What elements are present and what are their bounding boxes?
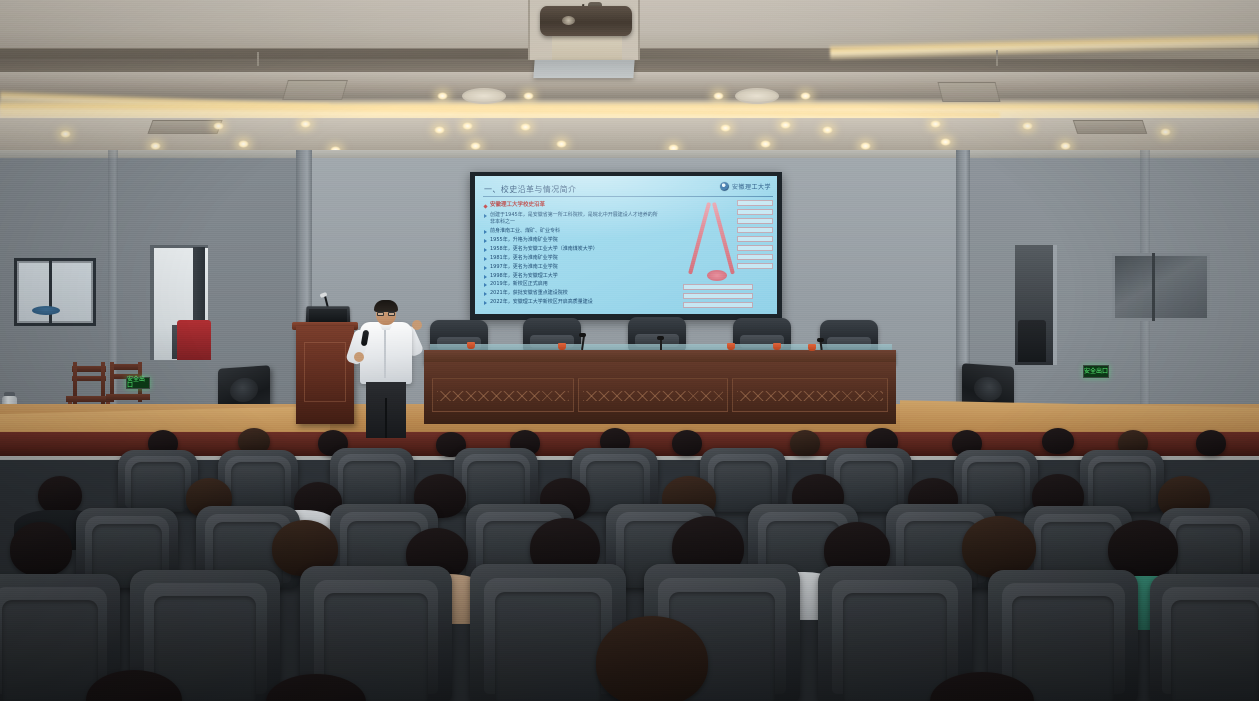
auditorium-photo: 一、校史沿革与情况简介 安徽理工大学 安徽理工大学校史沿革 创建于1945年，是… [0, 0, 1259, 701]
downlight [437, 92, 448, 100]
table-panel-pattern [737, 391, 883, 401]
ceiling-vent-right [938, 82, 1001, 102]
microphone-head-icon [579, 333, 586, 337]
exit-sign-text: 安全出口 [127, 377, 149, 389]
bullet-arrow-icon [484, 283, 487, 287]
diagram-arm-right [712, 202, 735, 275]
downlight [780, 121, 791, 129]
bullet-text: 创建于1945年，是安徽省第一所工科院校，是皖北中开展建设人才培养的所非本科之一 [490, 212, 662, 226]
diagram-label [737, 254, 773, 260]
downlight [760, 140, 771, 148]
downlight [1160, 128, 1171, 136]
list-item: 1955年，升格为淮南矿业学院 [484, 237, 662, 244]
diagram-label [737, 218, 773, 224]
ceiling-light-fixture-right [735, 88, 779, 104]
downlight [523, 92, 534, 100]
diagram-origin-node [707, 270, 727, 281]
downlight [150, 142, 161, 150]
bullet-text: 2021年，获批安徽省重点建设院校 [490, 290, 568, 297]
glasses-icon [377, 311, 395, 315]
drinking-cup [808, 344, 816, 351]
bullet-text: 前身淮南工业、煤矿、矿业专科 [490, 228, 560, 235]
diagram-label [737, 245, 773, 251]
right-doorway-chair [1018, 320, 1046, 362]
shirt-placket [384, 328, 386, 378]
ceiling-vent-left-2 [147, 120, 222, 134]
list-item: 创建于1945年，是安徽省第一所工科院校，是皖北中开展建设人才培养的所非本科之一 [484, 212, 662, 226]
table-panel-pattern [437, 391, 569, 401]
list-item: 1998年，更名为安徽理工大学 [484, 273, 662, 280]
downlight [470, 142, 481, 150]
downlight [800, 92, 811, 100]
downlight [462, 122, 473, 130]
audience-seat [330, 448, 414, 512]
table-panel-pattern [583, 391, 723, 401]
university-logo-text: 安徽理工大学 [732, 182, 771, 191]
list-item: 1981年，更名为淮南矿业学院 [484, 255, 662, 262]
bullet-text: 1981年，更名为淮南矿业学院 [490, 255, 558, 262]
bullet-arrow-icon [484, 275, 487, 279]
bullet-arrow-icon [484, 214, 487, 218]
bullet-text: 2019年，新校区正式启用 [490, 281, 548, 288]
diagram-label [737, 236, 773, 242]
downlight [520, 123, 531, 131]
list-item: 2021年，获批安徽省重点建设院校 [484, 290, 662, 297]
ceiling-hanger-right [996, 50, 998, 66]
bullet-arrow-icon [484, 248, 487, 252]
right-window-mullion [1152, 253, 1155, 321]
diagram-label [737, 227, 773, 233]
downlight [860, 142, 871, 150]
left-window-mullion [49, 258, 52, 326]
list-item: 1997年，更名为淮南工业学院 [484, 264, 662, 271]
ceiling-hanger-left [257, 52, 259, 66]
exit-sign-left: 安全出口 [126, 377, 150, 389]
drinking-cup [558, 343, 566, 350]
bullet-text: 1958年，更名为安徽工业大学（淮南煤炭大学） [490, 246, 598, 253]
diagram-label [737, 263, 773, 269]
slide-surface: 一、校史沿革与情况简介 安徽理工大学 安徽理工大学校史沿革 创建于1945年，是… [475, 176, 777, 314]
bullet-text: 1997年，更名为淮南工业学院 [490, 264, 558, 271]
audience-head [1196, 430, 1226, 456]
list-item: 前身淮南工业、煤矿、矿业专科 [484, 228, 662, 235]
slide-bullet-heading: 安徽理工大学校史沿革 [484, 202, 662, 209]
drinking-cup [467, 342, 475, 349]
bullet-arrow-icon [484, 239, 487, 243]
history-lineage-diagram [663, 198, 773, 312]
diagram-label [683, 302, 753, 308]
downlight [300, 120, 311, 128]
audience-head [10, 522, 72, 576]
university-logo: 安徽理工大学 [720, 182, 771, 191]
list-item: 2022年，安徽理工大学新校区开启高质量建设 [484, 299, 662, 306]
table-panel [732, 378, 888, 412]
bullet-arrow-icon [484, 301, 487, 305]
bullet-text: 1955年，升格为淮南矿业学院 [490, 237, 558, 244]
downlight [238, 140, 249, 148]
audience-seat [954, 450, 1038, 512]
glasses-lens-right [388, 312, 395, 316]
slide-heading-text: 安徽理工大学校史沿革 [490, 202, 545, 209]
bullet-text: 1998年，更名为安徽理工大学 [490, 273, 558, 280]
diagram-label [737, 209, 773, 215]
audience-head [790, 430, 820, 456]
audience-seat [1150, 574, 1259, 701]
exit-sign-text: 安全出口 [1084, 369, 1108, 375]
lectern-front-panel [304, 342, 346, 402]
diagram-label [683, 293, 753, 299]
downlight [1060, 142, 1071, 150]
bullet-arrow-icon [484, 257, 487, 261]
downlight [720, 124, 731, 132]
list-item: 2019年，新校区正式启用 [484, 281, 662, 288]
diagram-label [737, 200, 773, 206]
table-panel [432, 378, 574, 412]
bullet-arrow-icon [484, 266, 487, 270]
bullet-arrow-icon [484, 230, 487, 234]
ceiling-light-fixture-left [462, 88, 506, 104]
downlight [822, 126, 833, 134]
presenter-right-hand [412, 320, 422, 330]
audience-head [962, 516, 1036, 578]
list-item: 1958年，更名为安徽工业大学（淮南煤炭大学） [484, 246, 662, 253]
downlight [1022, 122, 1033, 130]
downlight [713, 92, 724, 100]
bullet-square-icon [483, 204, 487, 208]
audience-seat [1080, 450, 1164, 512]
right-window [1112, 253, 1210, 321]
glasses-lens-left [377, 312, 384, 316]
audience-seat [454, 448, 538, 512]
downlight [556, 140, 567, 148]
audience-head [1042, 428, 1074, 454]
university-logo-mark-icon [720, 182, 729, 191]
downlight [434, 126, 445, 134]
slide-bullet-list: 安徽理工大学校史沿革 创建于1945年，是安徽省第一所工科院校，是皖北中开展建设… [484, 202, 662, 308]
drinking-cup [773, 343, 781, 350]
diagram-arm-left [688, 202, 711, 275]
audience-head-foreground [596, 616, 708, 701]
presenter-left-hand [354, 352, 364, 362]
projection-screen: 一、校史沿革与情况简介 安徽理工大学 安徽理工大学校史沿革 创建于1945年，是… [470, 172, 782, 320]
slide-title-underline [483, 196, 773, 197]
ceiling-vent-left [282, 80, 348, 100]
ceiling-vent-right-2 [1073, 120, 1148, 134]
bullet-arrow-icon [484, 292, 487, 296]
stored-items-red [177, 320, 211, 360]
ceiling-projector [540, 6, 632, 36]
table-panel [578, 378, 728, 412]
audience-head [672, 430, 702, 456]
microphone-head-icon [817, 338, 824, 342]
audience-head [38, 476, 82, 514]
exit-sign-right: 安全出口 [1083, 365, 1109, 378]
downlight [60, 130, 71, 138]
window-object [32, 306, 60, 315]
bullet-text: 2022年，安徽理工大学新校区开启高质量建设 [490, 299, 593, 306]
projector-ceiling-plate [533, 60, 634, 78]
microphone-head-icon [657, 336, 664, 340]
downlight [940, 138, 951, 146]
drinking-cup [727, 343, 735, 350]
left-window [14, 258, 96, 326]
diagram-label [683, 284, 753, 290]
downlight [213, 122, 224, 130]
wall-top-trim [0, 150, 1259, 158]
downlight [930, 120, 941, 128]
projector-lens-icon [562, 16, 575, 25]
projector-mount [552, 34, 622, 60]
slide-title: 一、校史沿革与情况简介 [484, 184, 694, 195]
audience-seating [0, 424, 1259, 701]
chair-seat [106, 394, 150, 400]
